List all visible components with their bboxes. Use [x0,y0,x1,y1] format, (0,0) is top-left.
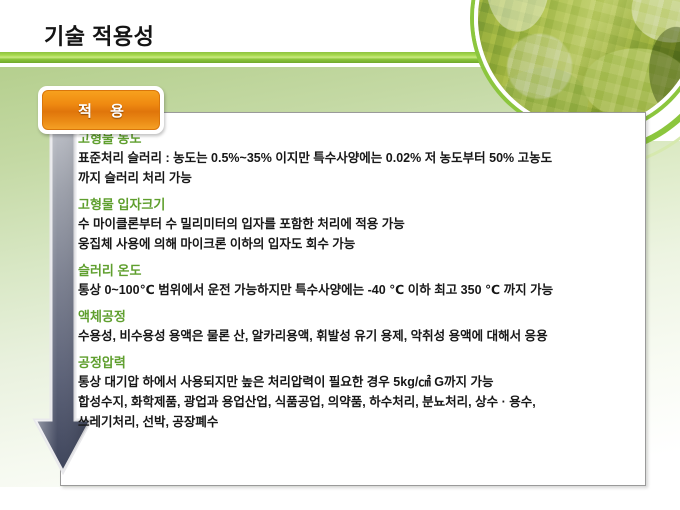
section-line: 통상 0~100℃ 범위에서 운전 가능하지만 특수사양에는 -40 ℃ 이하 … [78,280,634,300]
section-liquid-process: 액체공정 수용성, 비수용성 용액은 물론 산, 알카리용액, 휘발성 유기 용… [78,308,634,346]
section-line: 표준처리 슬러리 : 농도는 0.5%~35% 이지만 특수사양에는 0.02%… [78,148,634,168]
section-solids-concentration: 고형물 농도 표준처리 슬러리 : 농도는 0.5%~35% 이지만 특수사양에… [78,130,634,188]
section-line: 쓰레기처리, 선박, 공장폐수 [78,412,634,432]
section-heading: 슬러리 온도 [78,262,634,279]
section-slurry-temperature: 슬러리 온도 통상 0~100℃ 범위에서 운전 가능하지만 특수사양에는 -4… [78,262,634,300]
section-line: 통상 대기압 하에서 사용되지만 높은 처리압력이 필요한 경우 5kg/㎠ G… [78,372,634,392]
section-heading: 고형물 농도 [78,130,634,147]
section-line: 수 마이클론부터 수 밀리미터의 입자를 포함한 처리에 적용 가능 [78,214,634,234]
section-particle-size: 고형물 입자크기 수 마이클론부터 수 밀리미터의 입자를 포함한 처리에 적용… [78,196,634,254]
section-heading: 액체공정 [78,308,634,325]
badge-label: 적 용 [71,100,131,121]
industrial-pipes-photo [478,0,680,128]
sections-list: 고형물 농도 표준처리 슬러리 : 농도는 0.5%~35% 이지만 특수사양에… [78,130,634,432]
section-process-pressure: 공정압력 통상 대기압 하에서 사용되지만 높은 처리압력이 필요한 경우 5k… [78,354,634,432]
badge-inner: 적 용 [42,90,160,130]
applications-badge[interactable]: 적 용 [38,86,164,134]
section-line: 수용성, 비수용성 용액은 물론 산, 알카리용액, 휘발성 유기 용제, 악취… [78,326,634,346]
section-heading: 고형물 입자크기 [78,196,634,213]
section-line: 까지 슬러리 처리 가능 [78,168,634,188]
section-line: 합성수지, 화학제품, 광업과 용업산업, 식품공업, 의약품, 하수처리, 분… [78,392,634,412]
section-line: 웅집체 사용에 의해 마이크론 이하의 입자도 회수 가능 [78,234,634,254]
slide-canvas: 기술 적용성 [0,0,680,510]
page-title: 기술 적용성 [44,19,154,51]
section-heading: 공정압력 [78,354,634,371]
